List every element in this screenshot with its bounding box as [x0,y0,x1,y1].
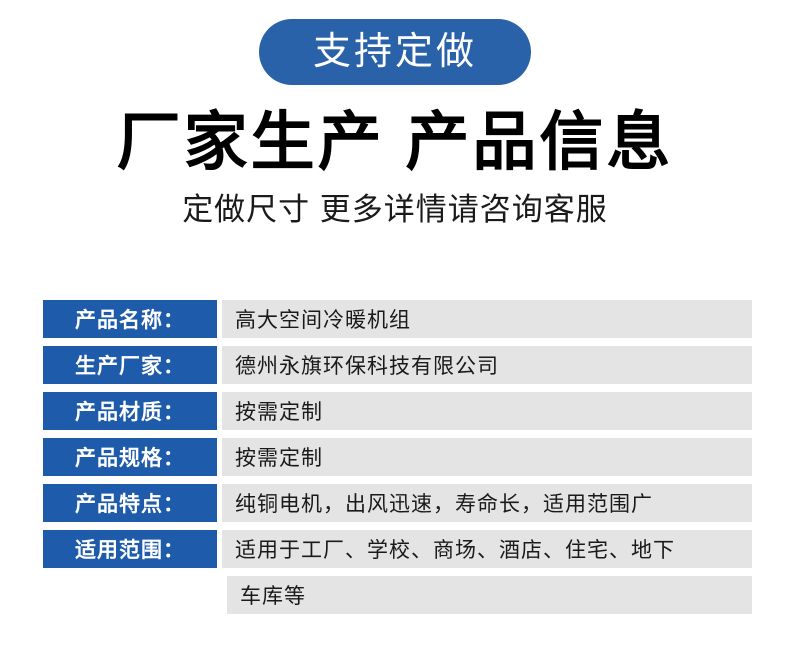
spec-label-manufacturer: 生产厂家： [43,346,217,384]
table-row: 产品名称： 高大空间冷暖机组 [43,300,752,338]
spec-value-material: 按需定制 [222,392,752,430]
table-row: 适用范围： 适用于工厂、学校、商场、酒店、住宅、地下 [43,530,752,568]
table-row: 产品特点： 纯铜电机，出风迅速，寿命长，适用范围广 [43,484,752,522]
spec-label-specification: 产品规格： [43,438,217,476]
table-row: 产品规格： 按需定制 [43,438,752,476]
spec-value-application-scope: 适用于工厂、学校、商场、酒店、住宅、地下 [222,530,752,568]
table-row: 生产厂家： 德州永旗环保科技有限公司 [43,346,752,384]
support-customization-badge: 支持定做 [259,19,531,85]
spec-value-application-scope-continued: 车库等 [227,576,752,614]
spec-value-features: 纯铜电机，出风迅速，寿命长，适用范围广 [222,484,752,522]
spec-value-specification: 按需定制 [222,438,752,476]
spec-label-application-scope: 适用范围： [43,530,217,568]
table-row-continuation: 车库等 [43,576,752,614]
page-title: 厂家生产 产品信息 [0,107,790,179]
table-row: 产品材质： 按需定制 [43,392,752,430]
banner-header: 支持定做 厂家生产 产品信息 定做尺寸 更多详情请咨询客服 [0,0,790,228]
page-subtitle: 定做尺寸 更多详情请咨询客服 [0,191,790,228]
spec-value-manufacturer: 德州永旗环保科技有限公司 [222,346,752,384]
badge-row: 支持定做 [0,0,790,85]
spec-label-spacer [43,576,222,614]
product-spec-table: 产品名称： 高大空间冷暖机组 生产厂家： 德州永旗环保科技有限公司 产品材质： … [43,300,752,622]
spec-label-material: 产品材质： [43,392,217,430]
product-info-banner: 支持定做 厂家生产 产品信息 定做尺寸 更多详情请咨询客服 产品名称： 高大空间… [0,0,790,654]
spec-label-product-name: 产品名称： [43,300,217,338]
spec-value-product-name: 高大空间冷暖机组 [222,300,752,338]
spec-label-features: 产品特点： [43,484,217,522]
